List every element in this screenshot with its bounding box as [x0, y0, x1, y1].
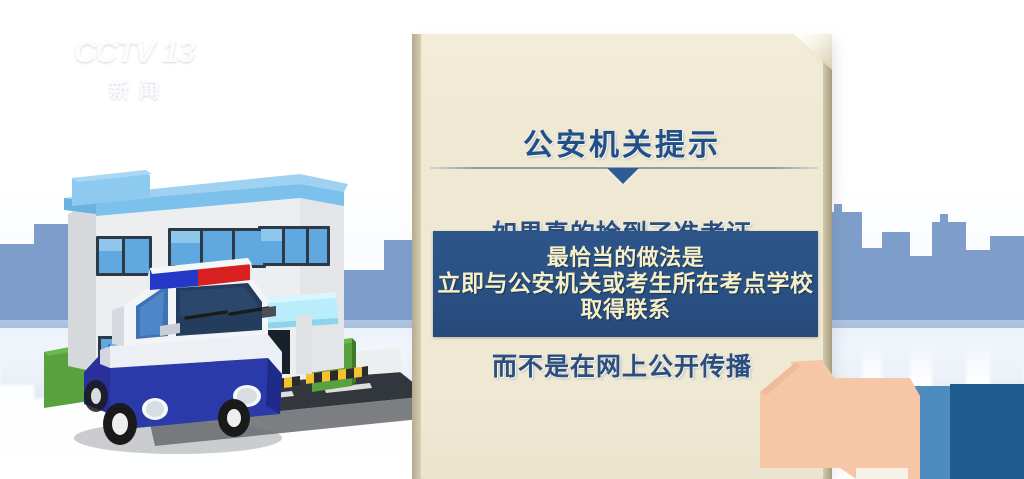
channel-logo-text: CCTV 13 [58, 34, 210, 70]
hand-holding-paper [760, 340, 1024, 479]
highlight-line-3: 取得联系 [580, 298, 670, 323]
broadcast-frame: 公安机关提示 如果真的捡到了准考证 最恰当的做法是 立即与公安机关或考生所在考点… [0, 0, 1024, 479]
channel-logo: CCTV 13 新闻 [58, 34, 210, 104]
highlight-line-2: 立即与公安机关或考生所在考点学校 [438, 271, 814, 297]
notice-highlight-box: 最恰当的做法是 立即与公安机关或考生所在考点学校 取得联系 [433, 231, 818, 337]
paper-left-edge [412, 34, 421, 479]
highlight-line-1: 最恰当的做法是 [547, 246, 705, 271]
chevron-down-icon [607, 168, 639, 184]
channel-logo-divider [62, 71, 206, 73]
sleeve-dark [950, 384, 1024, 479]
channel-logo-subtitle: 新闻 [58, 74, 210, 103]
notice-title: 公安机关提示 [422, 120, 822, 164]
